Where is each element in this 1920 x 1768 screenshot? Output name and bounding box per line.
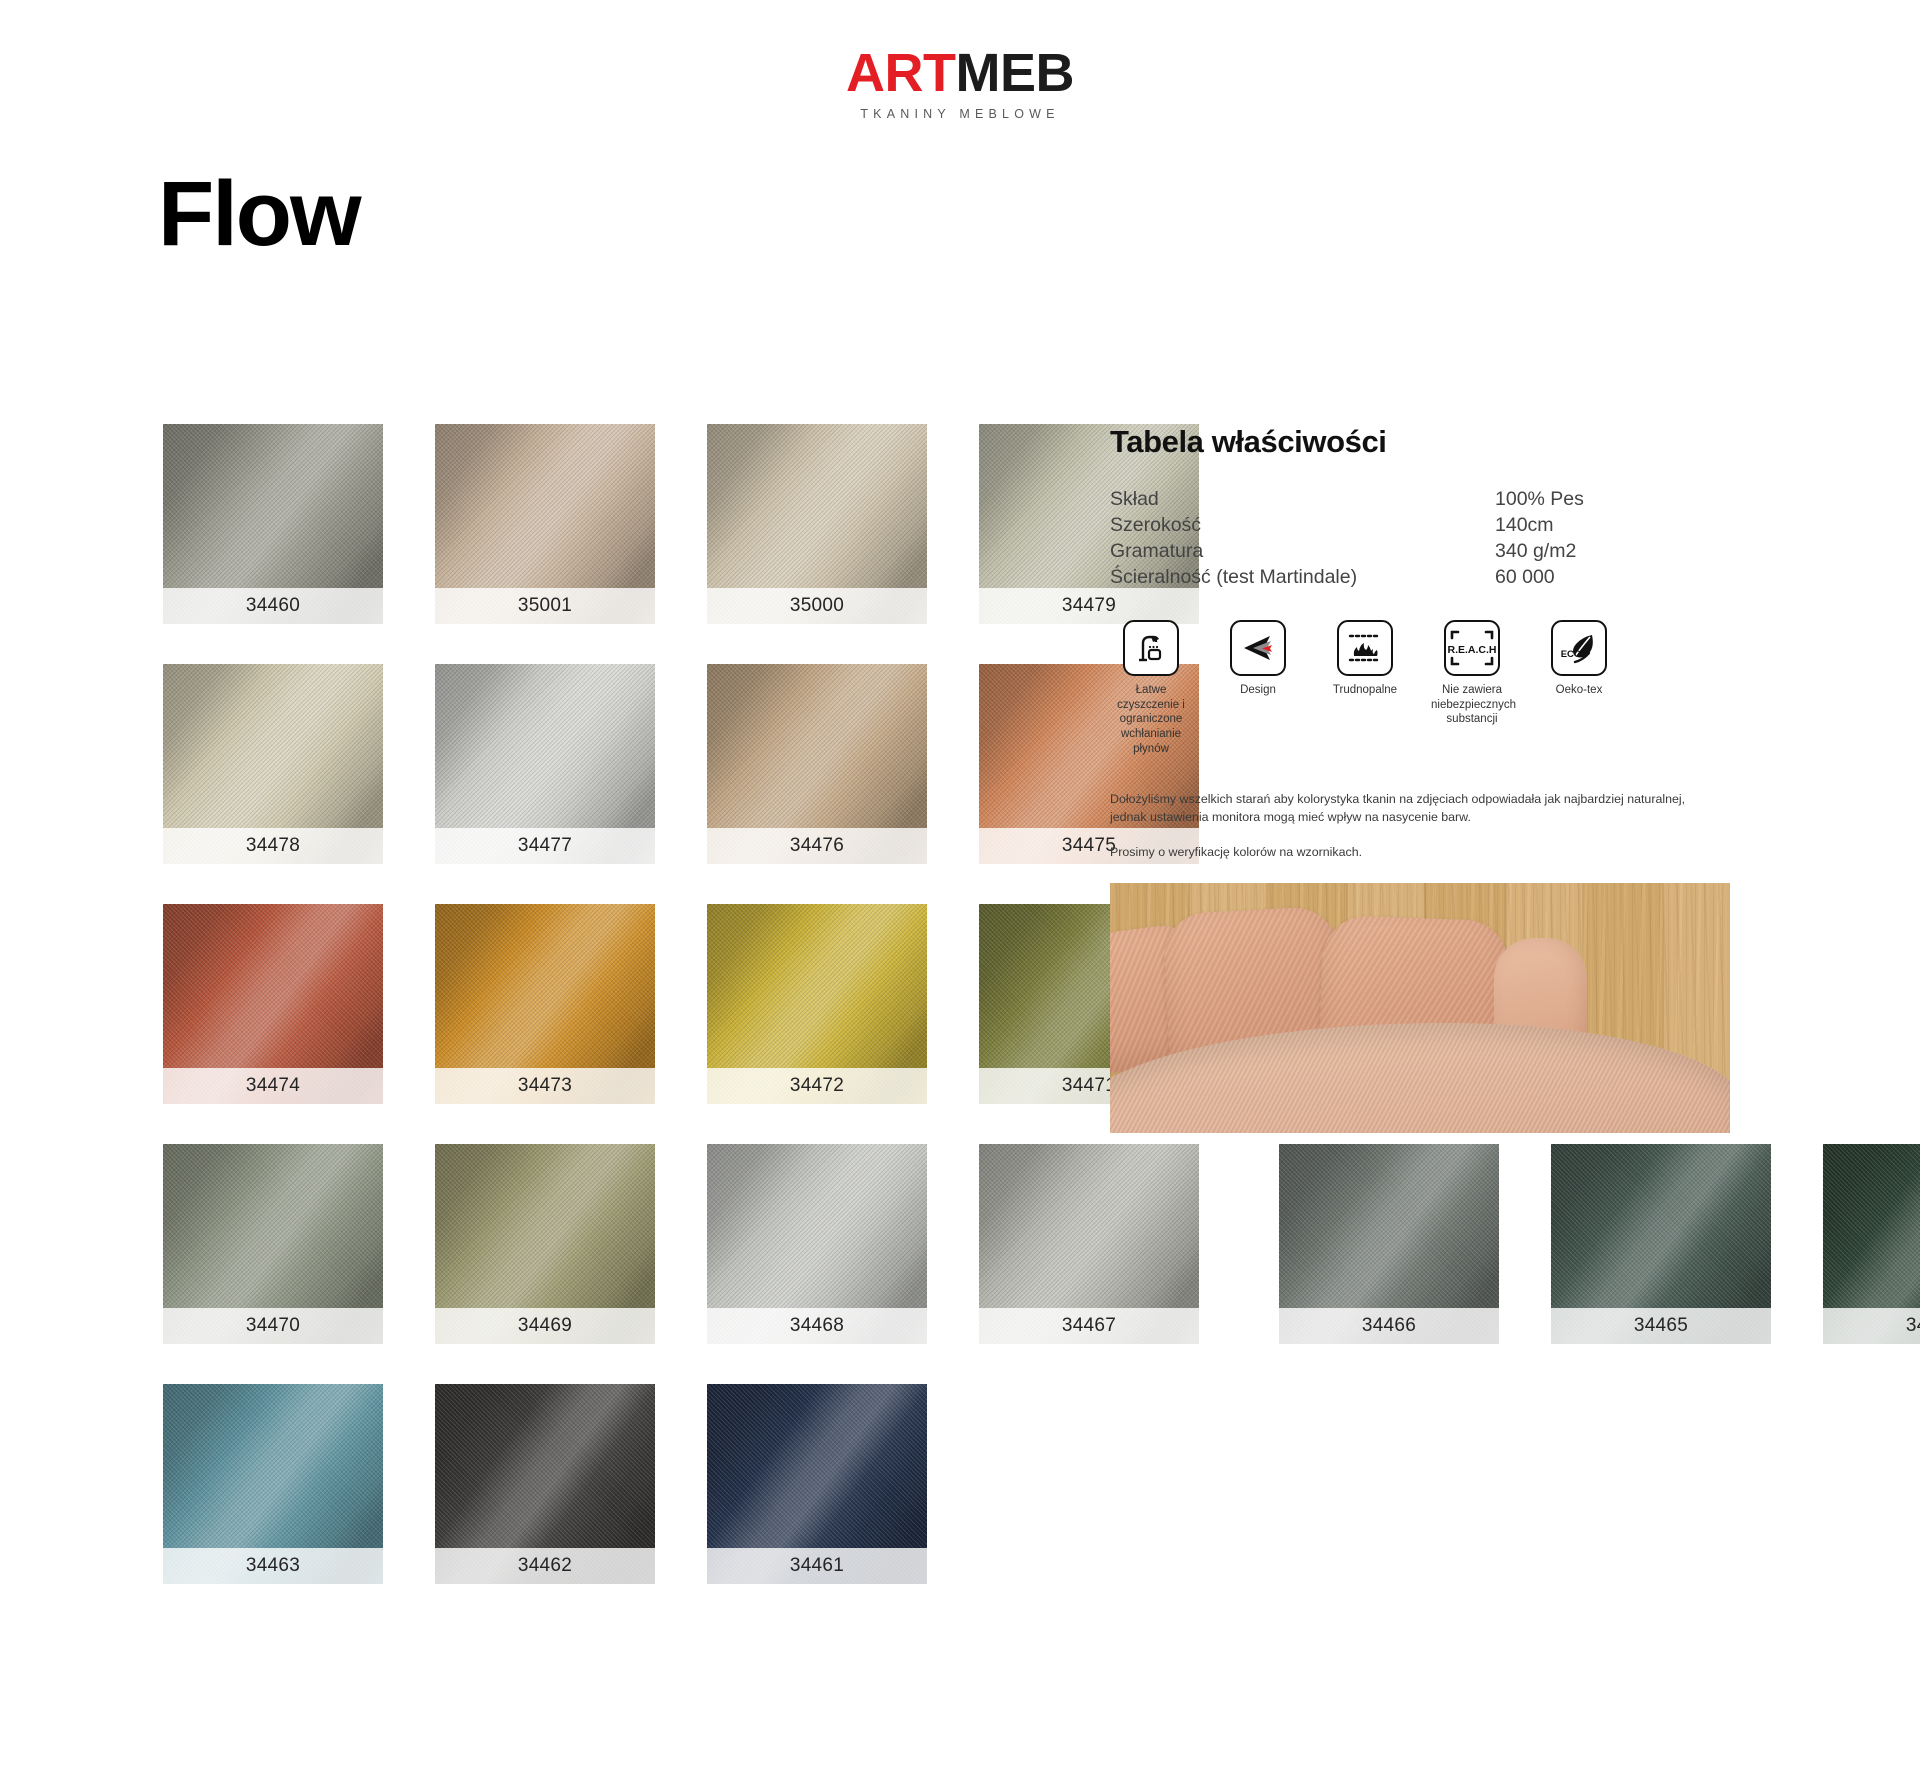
fabric-swatch[interactable]: 34466 bbox=[1279, 1144, 1499, 1344]
design-arrow-icon bbox=[1230, 620, 1286, 676]
certification-item: R.E.A.C.HNie zawiera niebezpiecznych sub… bbox=[1431, 620, 1513, 757]
fabric-swatch[interactable]: 34461 bbox=[707, 1384, 927, 1584]
swatch-row: 34460350013500034479 bbox=[163, 424, 1253, 664]
eco-leaf-icon: ECO bbox=[1551, 620, 1607, 676]
fabric-swatch[interactable]: 34460 bbox=[163, 424, 383, 624]
fabric-swatch[interactable]: 34464 bbox=[1823, 1144, 1920, 1344]
swatch-code-label: 34478 bbox=[163, 828, 383, 864]
color-disclaimer: Dołożyliśmy wszelkich starań aby kolorys… bbox=[1110, 791, 1722, 862]
logo-art-text: ART bbox=[846, 43, 955, 103]
certification-item: Łatwe czyszczenie i ograniczone wchłania… bbox=[1110, 620, 1192, 757]
property-label: Szerokość bbox=[1110, 512, 1495, 538]
flame-retardant-icon bbox=[1337, 620, 1393, 676]
swatch-code-label: 35001 bbox=[435, 588, 655, 624]
fabric-swatch[interactable]: 34470 bbox=[163, 1144, 383, 1344]
properties-table-body: Skład100% PesSzerokość140cmGramatura340 … bbox=[1110, 486, 1670, 590]
fabric-swatch[interactable]: 34468 bbox=[707, 1144, 927, 1344]
svg-text:ECO: ECO bbox=[1561, 649, 1581, 660]
certification-item: ECOOeko-tex bbox=[1538, 620, 1620, 757]
swatch-code-label: 34474 bbox=[163, 1068, 383, 1104]
property-value: 60 000 bbox=[1495, 564, 1670, 590]
sofa-room-photo bbox=[1110, 883, 1730, 1133]
fabric-swatch[interactable]: 35000 bbox=[707, 424, 927, 624]
certification-caption: Łatwe czyszczenie i ograniczone wchłania… bbox=[1110, 683, 1192, 757]
certification-caption: Trudnopalne bbox=[1324, 683, 1406, 698]
swatch-code-label: 34467 bbox=[979, 1308, 1199, 1344]
certification-caption: Nie zawiera niebezpiecznych substancji bbox=[1431, 683, 1513, 727]
swatch-code-label: 34460 bbox=[163, 588, 383, 624]
property-value: 100% Pes bbox=[1495, 486, 1670, 512]
certification-caption: Design bbox=[1217, 683, 1299, 698]
swatch-code-label: 34477 bbox=[435, 828, 655, 864]
brand-logo: ARTMEB TKANINY MEBLOWE bbox=[0, 46, 1920, 121]
fabric-swatch[interactable]: 34476 bbox=[707, 664, 927, 864]
swatch-row: 34470344693446834467344663446534464 bbox=[163, 1144, 1253, 1384]
properties-table: Skład100% PesSzerokość140cmGramatura340 … bbox=[1110, 486, 1670, 590]
fabric-swatch[interactable]: 34462 bbox=[435, 1384, 655, 1584]
fabric-swatch[interactable]: 34472 bbox=[707, 904, 927, 1104]
fabric-swatch[interactable]: 34478 bbox=[163, 664, 383, 864]
swatch-code-label: 34461 bbox=[707, 1548, 927, 1584]
certification-item: Design bbox=[1217, 620, 1299, 757]
property-value: 140cm bbox=[1495, 512, 1670, 538]
swatch-code-label: 34472 bbox=[707, 1068, 927, 1104]
swatch-row: 344633446234461 bbox=[163, 1384, 1253, 1624]
disclaimer-paragraph-2: Prosimy o weryfikację kolorów na wzornik… bbox=[1110, 844, 1722, 862]
reach-certificate-icon: R.E.A.C.H bbox=[1444, 620, 1500, 676]
property-value: 340 g/m2 bbox=[1495, 538, 1670, 564]
disclaimer-paragraph-1: Dołożyliśmy wszelkich starań aby kolorys… bbox=[1110, 791, 1722, 827]
properties-row: Ścieralność (test Martindale)60 000 bbox=[1110, 564, 1670, 590]
swatch-code-label: 35000 bbox=[707, 588, 927, 624]
swatch-code-label: 34465 bbox=[1551, 1308, 1771, 1344]
fabric-swatch[interactable]: 34467 bbox=[979, 1144, 1199, 1344]
swatch-code-label: 34469 bbox=[435, 1308, 655, 1344]
property-label: Ścieralność (test Martindale) bbox=[1110, 564, 1495, 590]
properties-row: Szerokość140cm bbox=[1110, 512, 1670, 538]
certification-item: Trudnopalne bbox=[1324, 620, 1406, 757]
properties-panel: Tabela właściwości Skład100% PesSzerokoś… bbox=[1110, 424, 1730, 1133]
swatch-code-label: 34473 bbox=[435, 1068, 655, 1104]
swatch-code-label: 34468 bbox=[707, 1308, 927, 1344]
swatch-row: 34478344773447634475 bbox=[163, 664, 1253, 904]
swatch-code-label: 34462 bbox=[435, 1548, 655, 1584]
swatch-code-label: 34466 bbox=[1279, 1308, 1499, 1344]
logo-meb-text: MEB bbox=[955, 43, 1074, 103]
certification-icons: Łatwe czyszczenie i ograniczone wchłania… bbox=[1110, 620, 1730, 757]
swatch-code-label: 34464 bbox=[1823, 1308, 1920, 1344]
logo-tagline: TKANINY MEBLOWE bbox=[0, 107, 1920, 121]
swatch-code-label: 34463 bbox=[163, 1548, 383, 1584]
properties-heading: Tabela właściwości bbox=[1110, 424, 1730, 460]
fabric-swatch[interactable]: 34477 bbox=[435, 664, 655, 864]
certification-caption: Oeko-tex bbox=[1538, 683, 1620, 698]
swatch-code-label: 34470 bbox=[163, 1308, 383, 1344]
svg-text:R.E.A.C.H: R.E.A.C.H bbox=[1448, 644, 1496, 656]
properties-row: Skład100% Pes bbox=[1110, 486, 1670, 512]
fabric-swatch-grid: 3446035001350003447934478344773447634475… bbox=[163, 424, 1253, 1624]
fabric-swatch[interactable]: 34465 bbox=[1551, 1144, 1771, 1344]
fabric-swatch[interactable]: 34463 bbox=[163, 1384, 383, 1584]
fabric-swatch[interactable]: 34473 bbox=[435, 904, 655, 1104]
logo-wordmark: ARTMEB bbox=[0, 46, 1920, 100]
swatch-code-label: 34476 bbox=[707, 828, 927, 864]
vacuum-cleaning-icon bbox=[1123, 620, 1179, 676]
property-label: Skład bbox=[1110, 486, 1495, 512]
page-title: Flow bbox=[158, 168, 360, 260]
property-label: Gramatura bbox=[1110, 538, 1495, 564]
fabric-swatch[interactable]: 35001 bbox=[435, 424, 655, 624]
swatch-row: 34474344733447234471 bbox=[163, 904, 1253, 1144]
fabric-swatch[interactable]: 34469 bbox=[435, 1144, 655, 1344]
fabric-swatch[interactable]: 34474 bbox=[163, 904, 383, 1104]
properties-row: Gramatura340 g/m2 bbox=[1110, 538, 1670, 564]
